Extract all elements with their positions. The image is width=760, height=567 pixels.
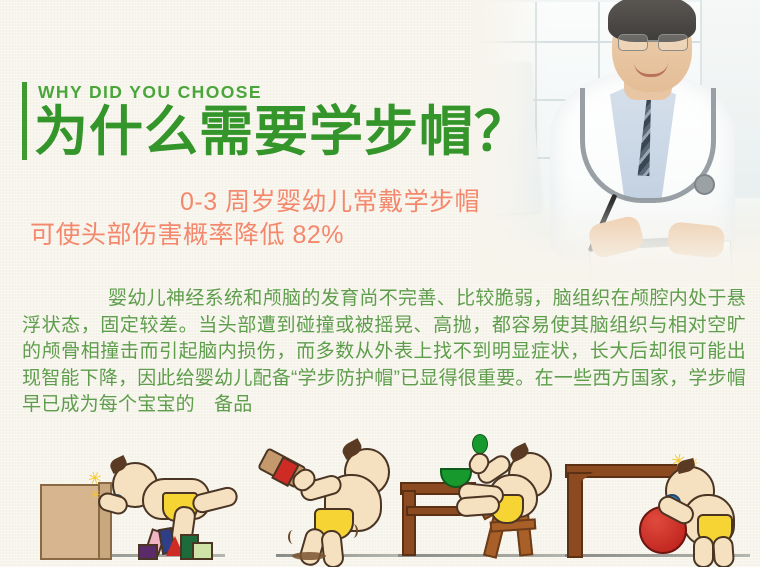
stethoscope-bell — [694, 174, 715, 195]
subheading-line-1: 0-3 周岁婴幼儿常戴学步帽 — [180, 182, 480, 218]
illustration-scene-2 — [248, 432, 398, 567]
body-paragraph: 婴幼儿神经系统和颅脑的发育尚不完善、比较脆弱，脑组织在颅腔内处于悬浮状态，固定较… — [22, 286, 746, 419]
heading-accent-bar — [22, 82, 27, 160]
eyebrow-text: WHY DID YOU CHOOSE — [38, 82, 262, 103]
illustration-strip: ✳ ✳ — [0, 432, 760, 567]
illustration-scene-1: ✳ ✳ — [40, 432, 225, 567]
illustration-scene-4: ✳ ✳ — [565, 432, 750, 567]
promo-page: WHY DID YOU CHOOSE 为什么需要学步帽？ 0-3 周岁婴幼儿常戴… — [0, 0, 760, 567]
illustration-scene-3 — [398, 432, 573, 567]
eyeglasses-icon — [617, 34, 689, 49]
page-title: 为什么需要学步帽？ — [34, 104, 529, 161]
doctor-right-hand — [666, 221, 725, 259]
subheading-line-2: 可使头部伤害概率降低 82% — [30, 215, 344, 251]
